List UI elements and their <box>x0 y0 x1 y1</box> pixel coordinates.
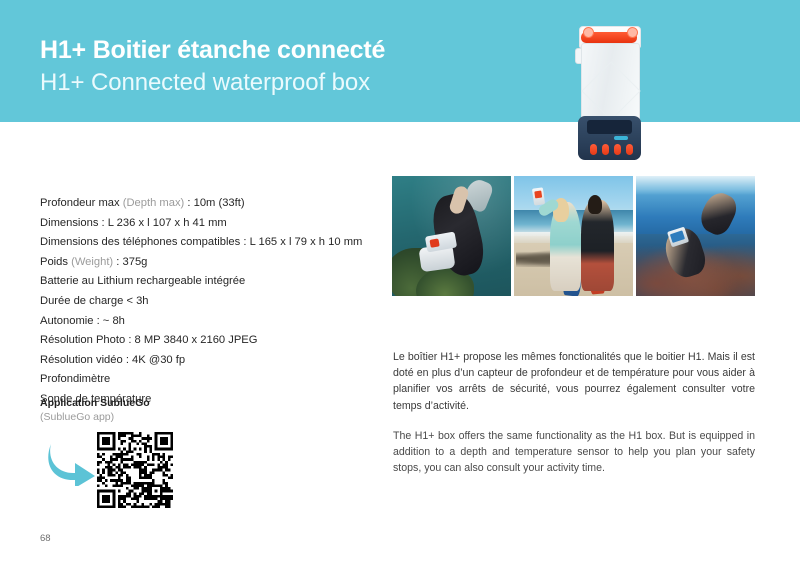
description-paragraph-en: The H1+ box offers the same functionalit… <box>393 428 755 477</box>
header-titles: H1+ Boitier étanche connecté H1+ Connect… <box>40 36 510 98</box>
product-knob-right <box>627 27 638 38</box>
spec-sublabel: (Depth max) <box>123 197 185 209</box>
water-surface <box>636 176 755 195</box>
spec-label: Dimensions : L 236 x l 107 x h 41 mm <box>40 217 227 229</box>
photo-beach-couple <box>514 176 633 296</box>
spec-value: : 10m (33ft) <box>184 197 244 209</box>
spec-label: Profondimètre <box>40 373 110 385</box>
spec-row: Résolution Photo : 8 MP 3840 x 2160 JPEG <box>40 331 385 351</box>
spec-label: Profondeur max <box>40 197 123 209</box>
spec-value: : 375g <box>113 256 147 268</box>
application-block: Application SublueGo (SublueGo app) <box>40 396 240 424</box>
spec-row: Poids (Weight) : 375g <box>40 253 385 273</box>
spec-label: Autonomie : ~ 8h <box>40 315 125 327</box>
spec-label: Dimensions des téléphones compatibles : … <box>40 236 362 248</box>
description-paragraph-fr: Le boîtier H1+ propose les mêmes fonctio… <box>393 349 755 414</box>
page-number: 68 <box>40 533 51 544</box>
man-hair <box>588 195 602 214</box>
page-title-en: H1+ Connected waterproof box <box>40 69 510 98</box>
curved-arrow-icon <box>45 438 97 486</box>
spec-row: Profondimètre <box>40 370 385 390</box>
product-base-slot <box>587 120 632 134</box>
spec-label: Durée de charge < 3h <box>40 295 149 307</box>
product-button-2 <box>602 144 609 155</box>
spec-row: Durée de charge < 3h <box>40 292 385 312</box>
qr-code[interactable] <box>97 432 173 508</box>
specification-list: Profondeur max (Depth max) : 10m (33ft) … <box>40 194 385 410</box>
product-image <box>571 26 647 160</box>
spec-row: Dimensions des téléphones compatibles : … <box>40 233 385 253</box>
spec-label: Résolution vidéo : 4K @30 fp <box>40 354 185 366</box>
spec-row: Dimensions : L 236 x l 107 x h 41 mm <box>40 214 385 234</box>
product-knob-left <box>583 27 594 38</box>
photo-underwater-diver <box>392 176 511 296</box>
product-base-accent <box>614 136 628 140</box>
spec-label: Poids <box>40 256 71 268</box>
spec-row: Autonomie : ~ 8h <box>40 312 385 332</box>
app-subtitle: (SublueGo app) <box>40 410 240 424</box>
selfie-phone <box>532 187 545 205</box>
product-base <box>578 116 641 160</box>
product-button-1 <box>590 144 597 155</box>
product-button-3 <box>614 144 621 155</box>
spec-label: Batterie au Lithium rechargeable intégré… <box>40 275 245 287</box>
spec-row: Batterie au Lithium rechargeable intégré… <box>40 272 385 292</box>
spec-label: Résolution Photo : 8 MP 3840 x 2160 JPEG <box>40 334 257 346</box>
page-title-fr: H1+ Boitier étanche connecté <box>40 36 510 65</box>
product-body <box>581 43 640 123</box>
photo-snorkelers-coral <box>636 176 755 296</box>
photo-strip <box>392 176 755 296</box>
spec-sublabel: (Weight) <box>71 256 113 268</box>
spec-row: Résolution vidéo : 4K @30 fp <box>40 351 385 371</box>
snorkeler-upper <box>695 188 741 238</box>
app-title: Application SublueGo <box>40 396 240 410</box>
spec-row: Profondeur max (Depth max) : 10m (33ft) <box>40 194 385 214</box>
product-button-4 <box>626 144 633 155</box>
